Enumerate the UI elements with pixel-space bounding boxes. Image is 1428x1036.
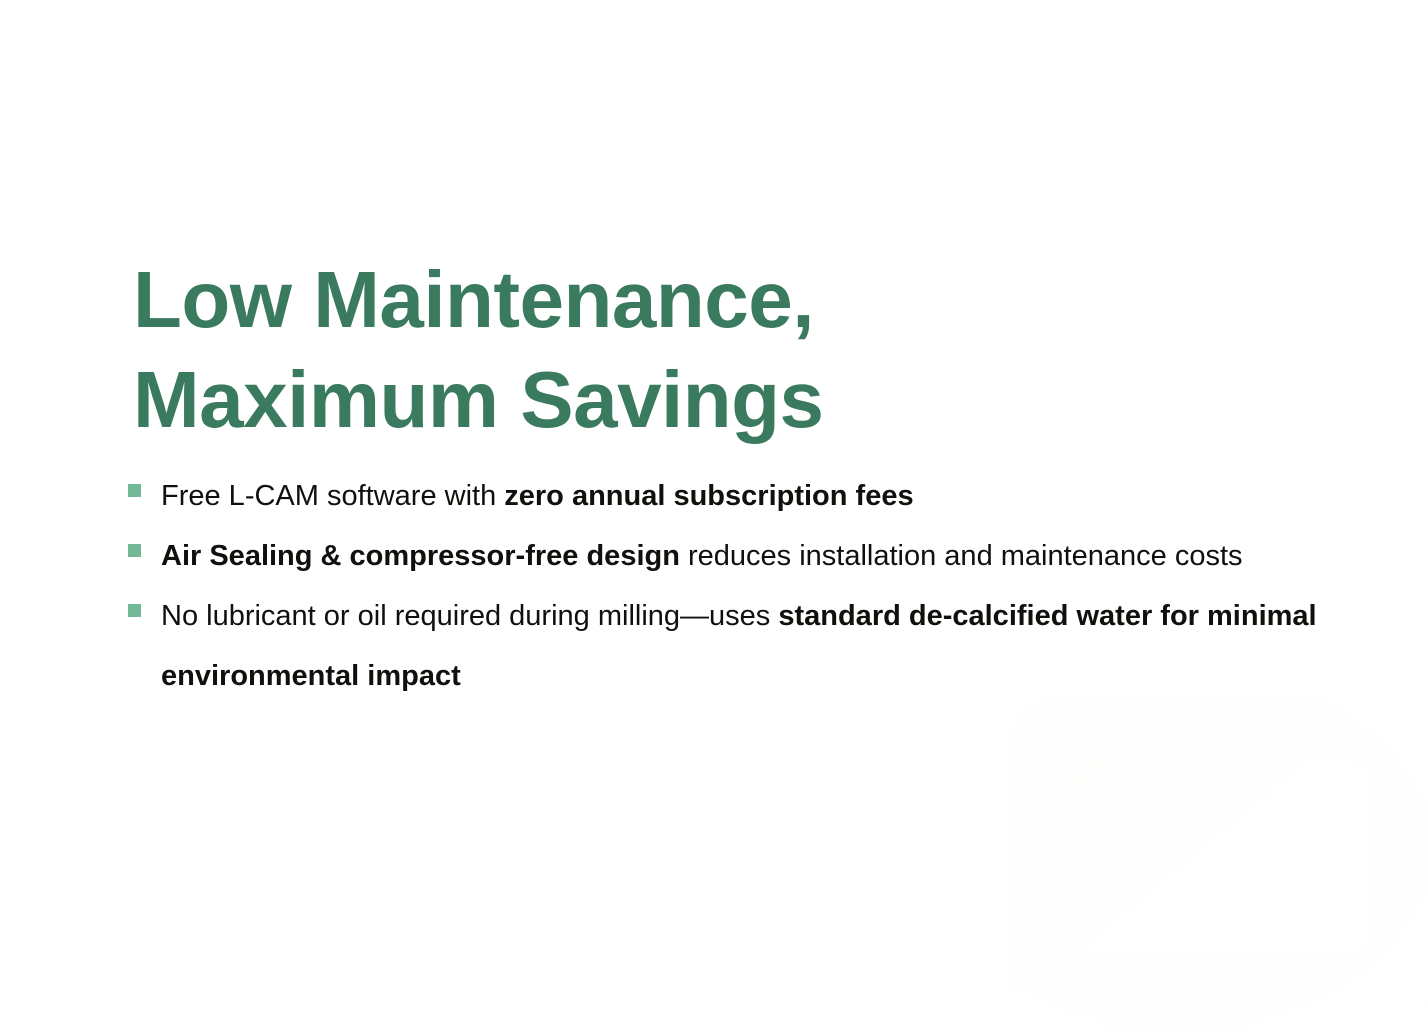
list-item: Air Sealing & compressor-free design red… — [128, 526, 1418, 586]
list-item-text: Air Sealing & compressor-free design red… — [161, 540, 1243, 572]
background-watermark-graphic — [1010, 700, 1428, 1030]
slide-canvas: Low Maintenance, Maximum Savings Free L-… — [0, 0, 1428, 1036]
list-item-text: No lubricant or oil required during mill… — [161, 600, 1317, 692]
page-title: Low Maintenance, Maximum Savings — [133, 250, 1293, 450]
list-item: No lubricant or oil required during mill… — [128, 586, 1418, 706]
bullet-list: Free L-CAM software with zero annual sub… — [128, 466, 1418, 706]
list-item-text: Free L-CAM software with zero annual sub… — [161, 480, 914, 512]
bullet-square-icon — [128, 544, 141, 557]
bullet-square-icon — [128, 484, 141, 497]
bullet-square-icon — [128, 604, 141, 617]
list-item: Free L-CAM software with zero annual sub… — [128, 466, 1418, 526]
